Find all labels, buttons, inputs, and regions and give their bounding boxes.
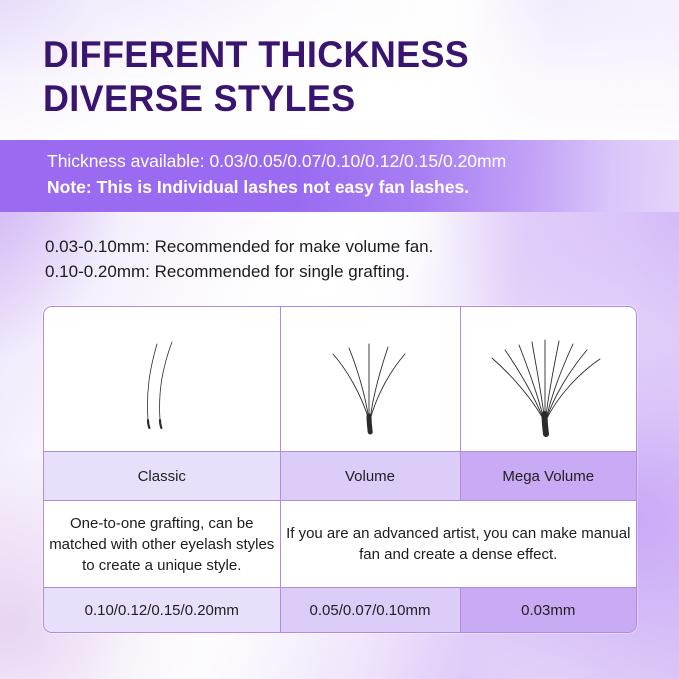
page-root: DIFFERENT THICKNESS DIVERSE STYLES Thick… (0, 0, 679, 679)
cell-illustration-volume (280, 307, 460, 452)
table-row-descriptions: One-to-one grafting, can be matched with… (44, 501, 636, 588)
cell-thickness-classic: 0.10/0.12/0.15/0.20mm (44, 588, 280, 633)
cell-description-classic: One-to-one grafting, can be matched with… (44, 501, 280, 588)
cell-illustration-classic (44, 307, 280, 452)
single-lash-icon (62, 316, 262, 442)
recommendation-notes: 0.03-0.10mm: Recommended for make volume… (45, 234, 433, 284)
cell-thickness-mega-volume: 0.03mm (460, 588, 636, 633)
cell-thickness-volume: 0.05/0.07/0.10mm (280, 588, 460, 633)
cell-label-classic: Classic (44, 452, 280, 501)
mega-volume-fan-icon (464, 316, 632, 442)
cell-label-volume: Volume (280, 452, 460, 501)
cell-label-mega-volume: Mega Volume (460, 452, 636, 501)
table-row-thickness: 0.10/0.12/0.15/0.20mm 0.05/0.07/0.10mm 0… (44, 588, 636, 633)
volume-fan-icon (285, 316, 455, 442)
thickness-banner: Thickness available: 0.03/0.05/0.07/0.10… (0, 140, 679, 212)
cell-illustration-mega-volume (460, 307, 636, 452)
recommendation-line-single-grafting: 0.10-0.20mm: Recommended for single graf… (45, 259, 433, 284)
table-row-illustrations (44, 307, 636, 452)
banner-note-text: Note: This is Individual lashes not easy… (47, 175, 469, 199)
table-row-labels: Classic Volume Mega Volume (44, 452, 636, 501)
cell-description-volume-and-mega: If you are an advanced artist, you can m… (280, 501, 636, 588)
page-title: DIFFERENT THICKNESS DIVERSE STYLES (43, 33, 625, 121)
banner-thickness-text: Thickness available: 0.03/0.05/0.07/0.10… (47, 149, 506, 173)
recommendation-line-volume-fan: 0.03-0.10mm: Recommended for make volume… (45, 234, 433, 259)
lash-comparison-table: Classic Volume Mega Volume One-to-one gr… (43, 306, 637, 633)
